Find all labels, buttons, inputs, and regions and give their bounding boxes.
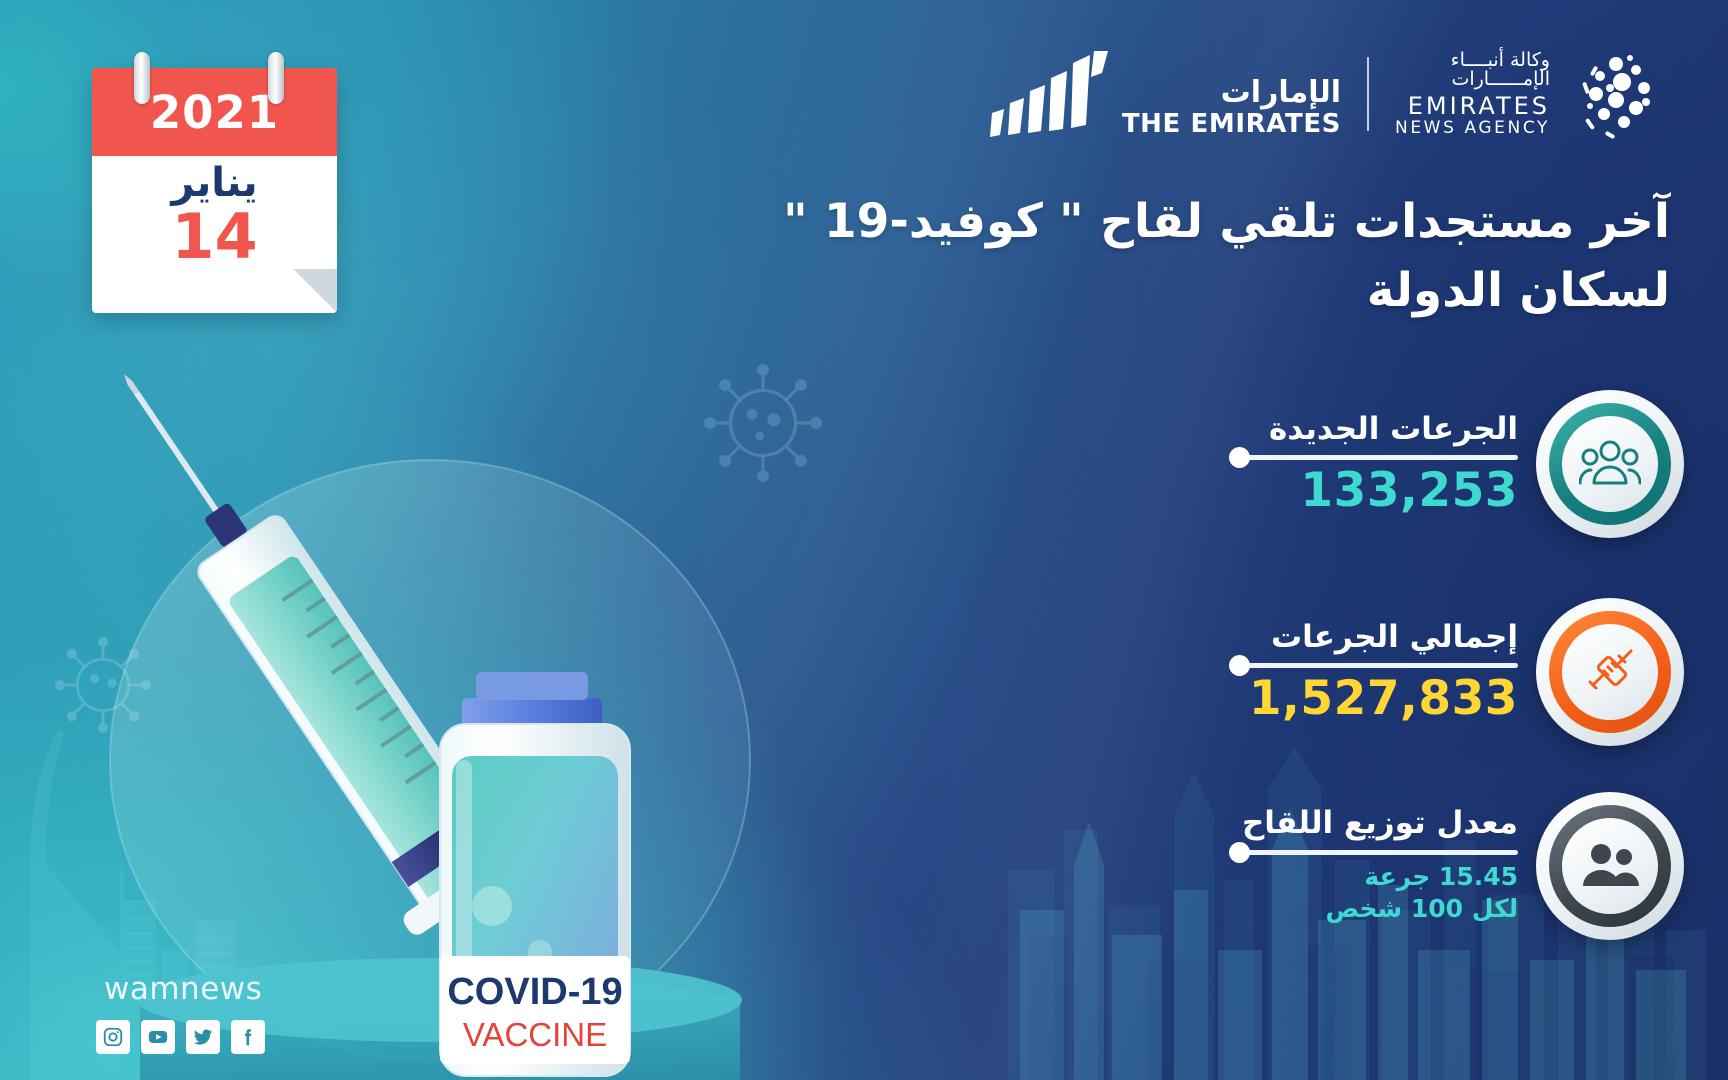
wam-english-line-1: EMIRATES bbox=[1408, 94, 1550, 119]
badge-ring bbox=[1549, 403, 1671, 525]
footer-social: wamnews bbox=[96, 971, 265, 1054]
calendar-page-fold bbox=[293, 269, 337, 313]
infographic-canvas: COVID-19 VACCINE 2021 يناير 14 bbox=[0, 0, 1728, 1080]
stat-text-distribution-rate: معدل توزيع اللقاح 15.45 جرعة لكل 100 شخص bbox=[1230, 806, 1518, 925]
youtube-icon[interactable] bbox=[141, 1020, 175, 1054]
stat-badge-new-doses bbox=[1536, 390, 1684, 538]
calendar-day: 14 bbox=[92, 206, 337, 268]
stat-value: 1,527,833 bbox=[1236, 674, 1518, 725]
stat-connector-line bbox=[1236, 663, 1518, 668]
stat-card-distribution-rate: معدل توزيع اللقاح 15.45 جرعة لكل 100 شخص bbox=[1230, 792, 1680, 940]
stat-text-new-doses: الجرعات الجديدة 133,253 bbox=[1230, 412, 1518, 517]
stat-card-total-doses: إجمالي الجرعات 1,527,833 bbox=[1230, 598, 1680, 746]
stat-sub-line-2: لكل 100 شخص bbox=[1236, 893, 1518, 926]
badge-inner bbox=[1562, 416, 1658, 512]
stat-label: معدل توزيع اللقاح bbox=[1236, 806, 1518, 840]
vaccine-illustration: COVID-19 VACCINE bbox=[0, 200, 1060, 1080]
calendar-year: 2021 bbox=[150, 90, 279, 135]
calendar-header: 2021 bbox=[92, 68, 337, 156]
badge-ring bbox=[1549, 611, 1671, 733]
social-handle: wamnews bbox=[96, 971, 265, 1007]
stat-badge-total-doses bbox=[1536, 598, 1684, 746]
instagram-icon[interactable] bbox=[96, 1020, 130, 1054]
date-calendar: 2021 يناير 14 bbox=[92, 68, 337, 313]
facebook-icon[interactable] bbox=[231, 1020, 265, 1054]
calendar-month: يناير bbox=[92, 162, 337, 204]
stat-badge-distribution-rate bbox=[1536, 792, 1684, 940]
wam-arabic-line-2: الإمــــــارات bbox=[1451, 70, 1550, 90]
badge-ring bbox=[1549, 805, 1671, 927]
people-group-icon bbox=[1579, 438, 1641, 490]
emirates-english-name: THE EMIRATES bbox=[1122, 111, 1341, 137]
badge-inner bbox=[1562, 818, 1658, 914]
stat-value: 133,253 bbox=[1236, 466, 1518, 517]
calendar-ring-left bbox=[134, 52, 150, 104]
emirates-wordmark: الإمارات THE EMIRATES bbox=[1122, 78, 1341, 137]
wam-english-line-2: NEWS AGENCY bbox=[1395, 120, 1550, 138]
wam-wordmark: وكالة أنبــــاء الإمــــــارات EMIRATES … bbox=[1395, 51, 1550, 138]
badge-inner bbox=[1562, 624, 1658, 720]
logo-bar: الإمارات THE EMIRATES وكالة أنبــــاء ال… bbox=[990, 38, 1678, 150]
page-title: آخر مستجدات تلقي لقاح " كوفيد-19 " لسكان… bbox=[670, 188, 1670, 325]
calendar-ring-right bbox=[268, 52, 284, 104]
svg-text:VACCINE: VACCINE bbox=[463, 1016, 607, 1053]
wam-arabic-line-1: وكالة أنبــــاء bbox=[1451, 51, 1550, 71]
stat-label: إجمالي الجرعات bbox=[1236, 620, 1518, 654]
emirates-arabic-name: الإمارات bbox=[1221, 78, 1341, 108]
calendar-body: 2021 يناير 14 bbox=[92, 68, 337, 313]
stat-connector-line bbox=[1236, 455, 1518, 460]
wam-globe-icon bbox=[1566, 38, 1678, 150]
stat-text-total-doses: إجمالي الجرعات 1,527,833 bbox=[1230, 620, 1518, 725]
stat-sub-line-1: 15.45 جرعة bbox=[1236, 861, 1518, 894]
stat-label: الجرعات الجديدة bbox=[1236, 412, 1518, 446]
syringe-icon bbox=[1579, 641, 1641, 703]
logo-divider bbox=[1367, 57, 1369, 131]
stat-card-new-doses: الجرعات الجديدة 133,253 bbox=[1230, 390, 1680, 538]
social-icon-row bbox=[96, 1020, 265, 1054]
svg-text:COVID-19: COVID-19 bbox=[447, 971, 622, 1013]
twitter-icon[interactable] bbox=[186, 1020, 220, 1054]
emirates-brand-logo: الإمارات THE EMIRATES bbox=[990, 51, 1341, 137]
emirates-bars-icon bbox=[990, 51, 1108, 137]
people-pair-icon bbox=[1579, 842, 1641, 890]
wam-brand-logo: وكالة أنبــــاء الإمــــــارات EMIRATES … bbox=[1395, 38, 1678, 150]
stat-connector-line bbox=[1236, 850, 1518, 855]
